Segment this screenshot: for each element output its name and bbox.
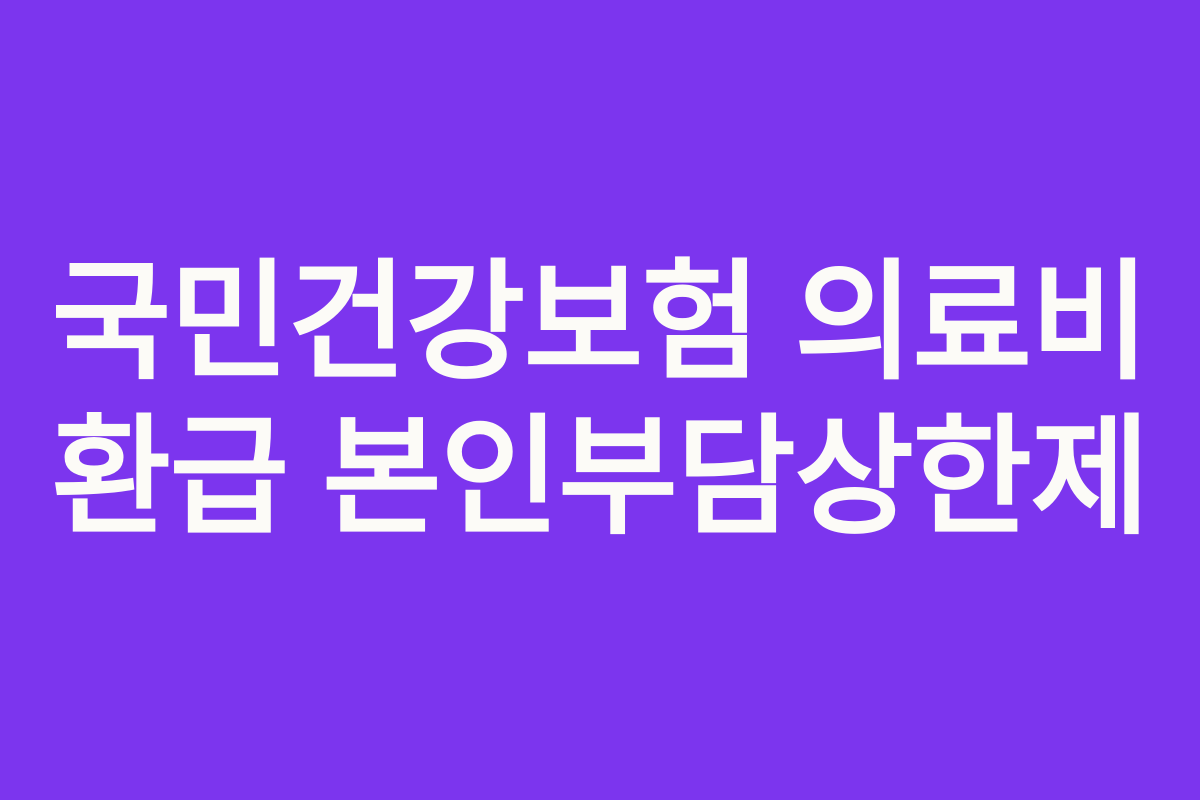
headline-block: 국민건강보험 의료비 환급 본인부담상한제 — [0, 245, 1200, 554]
thumbnail-card: 국민건강보험 의료비 환급 본인부담상한제 — [0, 0, 1200, 800]
headline-line-2: 환급 본인부담상한제 — [42, 400, 1158, 555]
headline-line-1: 국민건강보험 의료비 — [42, 245, 1158, 400]
